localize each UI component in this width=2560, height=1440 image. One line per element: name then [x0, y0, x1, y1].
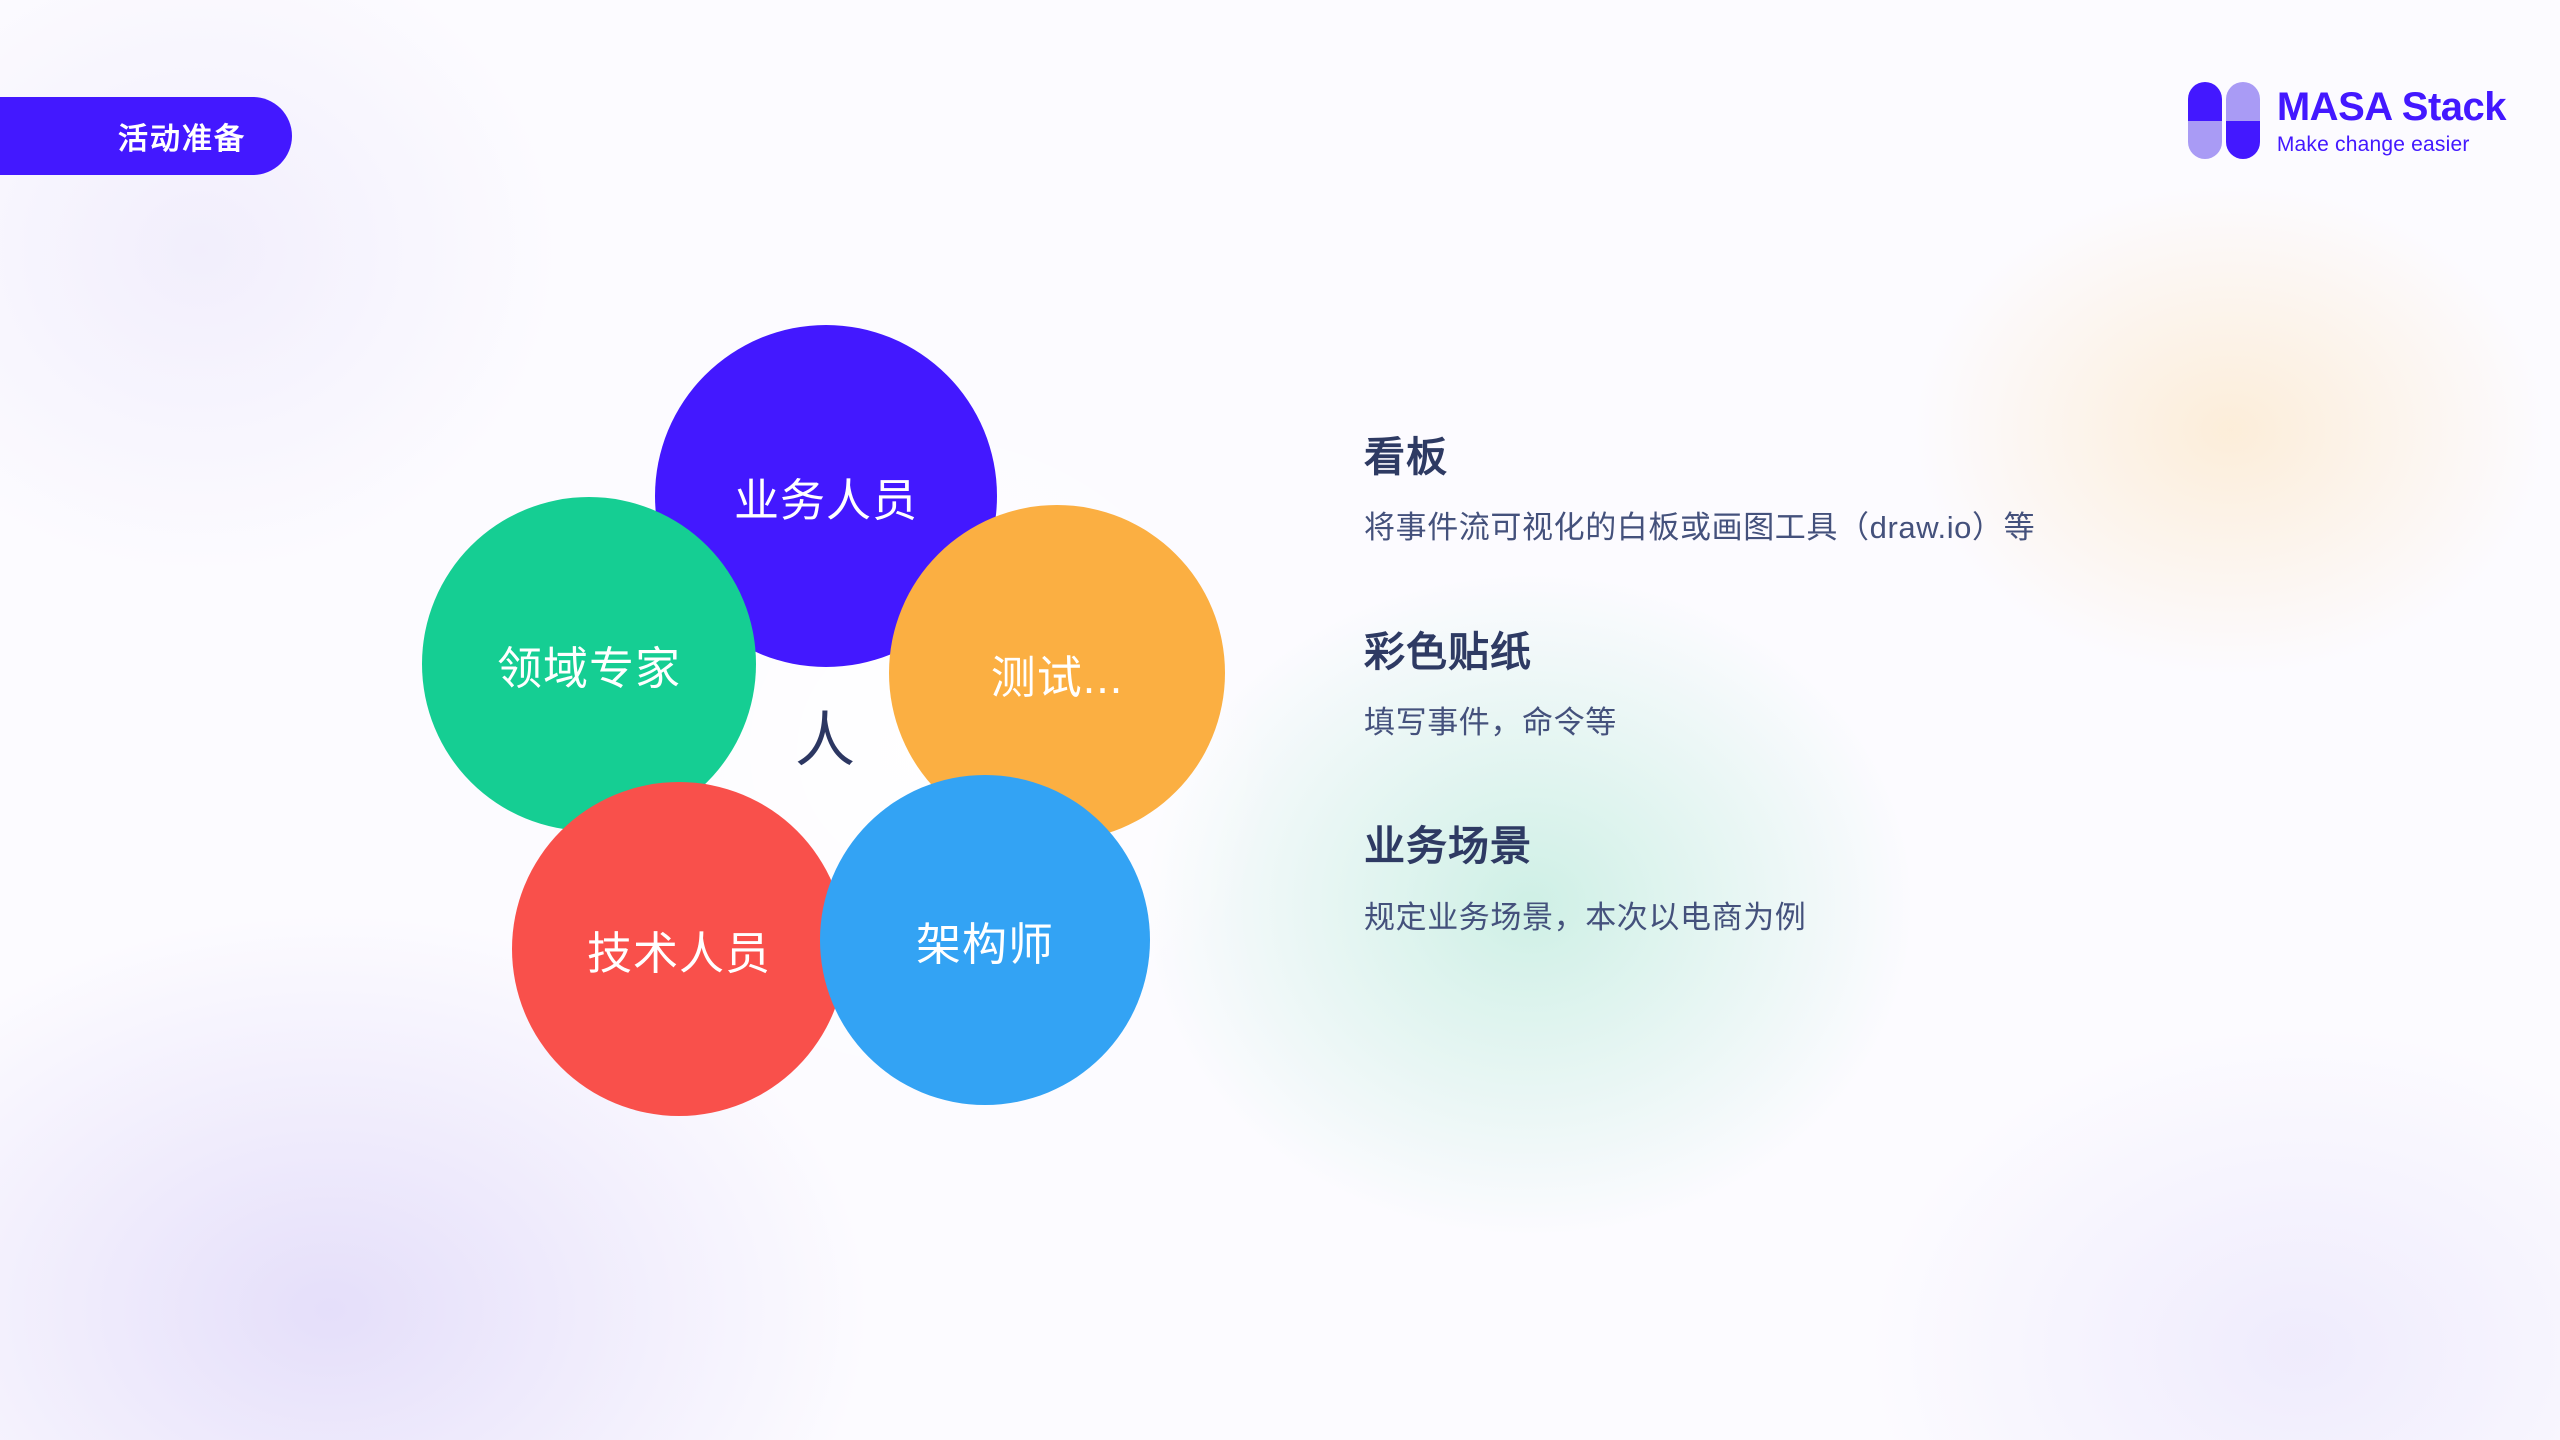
- background-glow-lavender-bottom-right: [1700, 900, 2560, 1440]
- preparation-detail-item: 彩色贴纸填写事件，命令等: [1364, 627, 2364, 745]
- diagram-node-label: 技术人员: [587, 917, 771, 982]
- diagram-node-label: 测试...: [991, 641, 1124, 706]
- brand-logo-text: MASA Stack Make change easier: [2277, 87, 2506, 155]
- roles-circle-diagram: 业务人员领域专家测试...技术人员架构师人: [400, 300, 1260, 1160]
- logo-pill-right-bottom: [2226, 121, 2260, 160]
- section-badge-label: 活动准备: [118, 114, 246, 158]
- logo-pill-left-bottom: [2188, 121, 2222, 160]
- diagram-node: 技术人员: [512, 782, 846, 1116]
- detail-title: 业务场景: [1364, 821, 2364, 872]
- section-badge: 活动准备: [0, 97, 292, 175]
- preparation-detail-item: 业务场景规定业务场景，本次以电商为例: [1364, 821, 2364, 939]
- diagram-node: 架构师: [820, 775, 1150, 1105]
- detail-title: 彩色贴纸: [1364, 627, 2364, 678]
- diagram-node-label: 领域专家: [497, 632, 681, 697]
- brand-logo: MASA Stack Make change easier: [2188, 82, 2506, 159]
- brand-name: MASA Stack: [2277, 87, 2506, 127]
- preparation-detail-item: 看板将事件流可视化的白板或画图工具（draw.io）等: [1364, 432, 2364, 550]
- logo-pill-right-top: [2226, 82, 2260, 121]
- detail-description: 将事件流可视化的白板或画图工具（draw.io）等: [1364, 506, 2364, 549]
- brand-tagline: Make change easier: [2277, 134, 2506, 155]
- logo-pill-right: [2226, 82, 2260, 159]
- detail-description: 填写事件，命令等: [1364, 701, 2364, 744]
- detail-title: 看板: [1364, 432, 2364, 483]
- detail-description: 规定业务场景，本次以电商为例: [1364, 896, 2364, 939]
- diagram-node: 领域专家: [422, 497, 756, 831]
- logo-pill-left-top: [2188, 82, 2222, 121]
- diagram-node-label: 架构师: [916, 908, 1054, 973]
- logo-pill-left: [2188, 82, 2222, 159]
- preparation-detail-list: 看板将事件流可视化的白板或画图工具（draw.io）等彩色贴纸填写事件，命令等业…: [1364, 432, 2364, 939]
- diagram-center-label: 人: [765, 675, 885, 795]
- slide-canvas: 活动准备 MASA Stack Make change easier 业务人员领…: [0, 0, 2560, 1440]
- masa-stack-logo-icon: [2188, 82, 2260, 159]
- diagram-node-label: 业务人员: [734, 464, 918, 529]
